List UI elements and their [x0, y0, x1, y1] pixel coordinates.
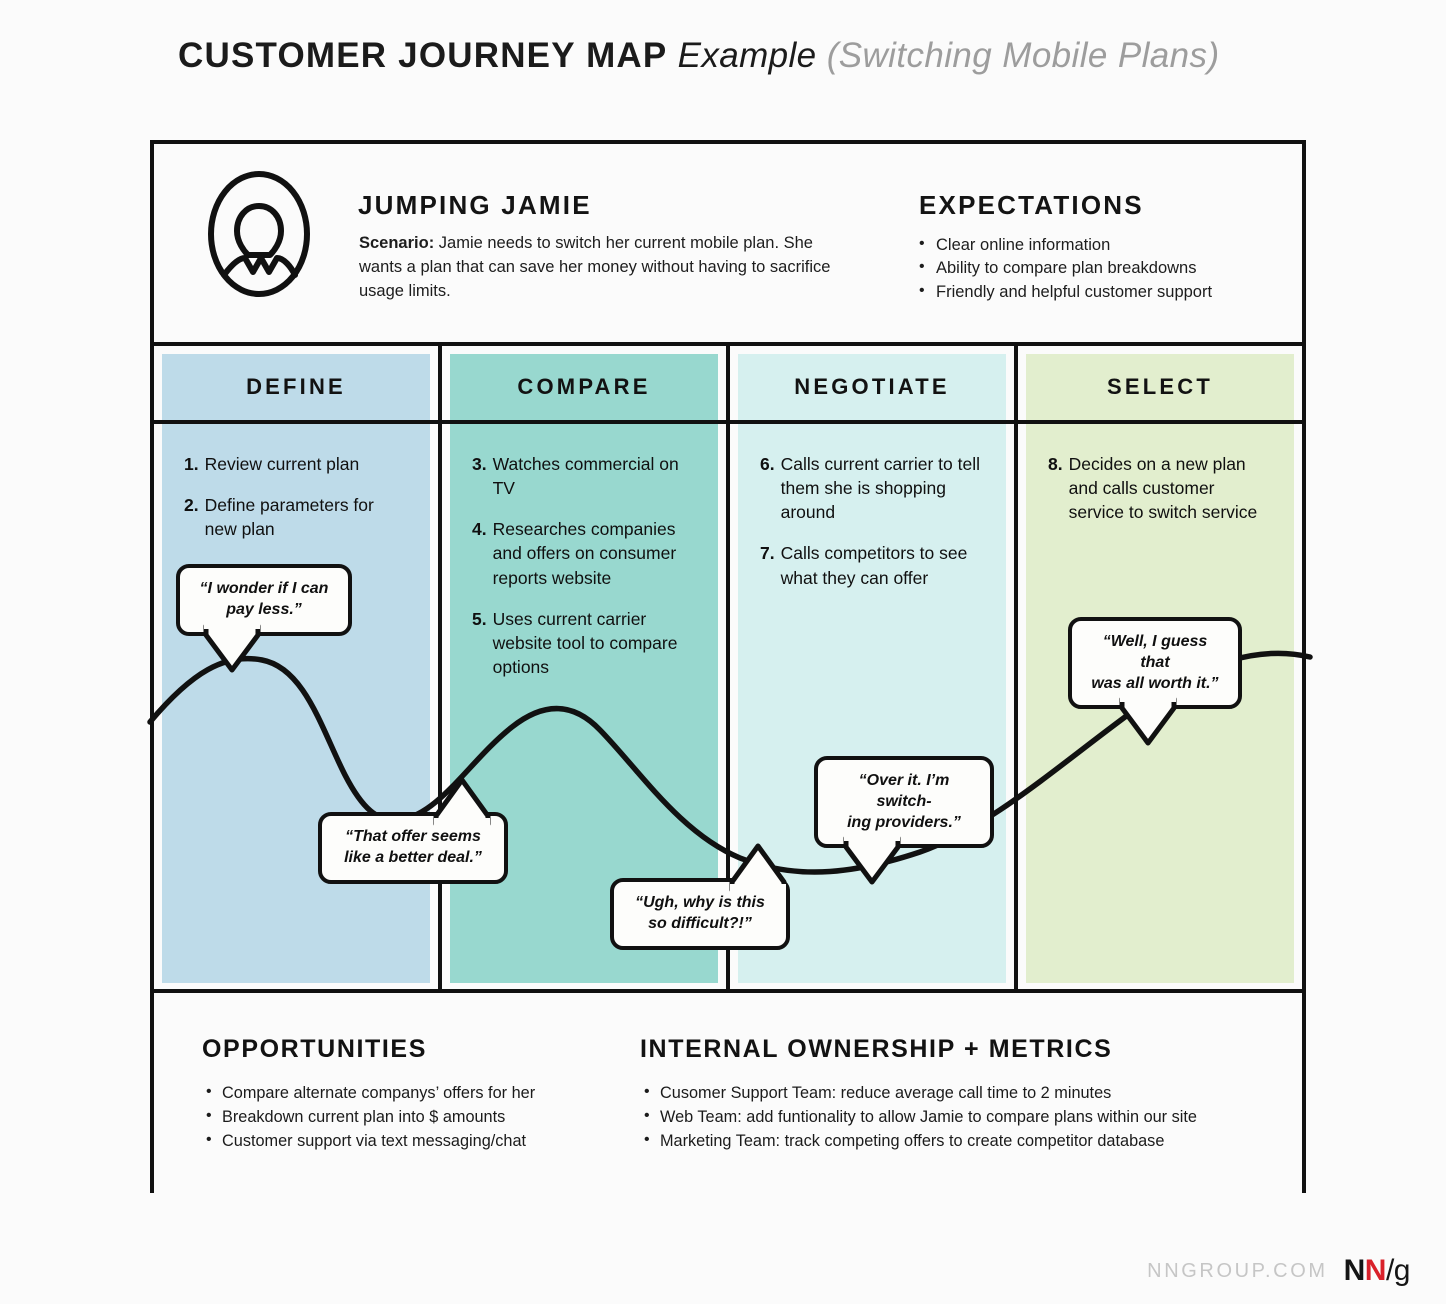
nng-logo: NN/g — [1344, 1256, 1410, 1286]
page-title-main: CUSTOMER JOURNEY MAP — [178, 36, 667, 75]
stage-body-define: 1. Review current plan 2. Define paramet… — [162, 424, 430, 983]
bottom-band: OPPORTUNITIES Compare alternate companys… — [154, 989, 1302, 1193]
ownership-title: INTERNAL OWNERSHIP + METRICS — [640, 1035, 1112, 1064]
quote-bubble-define: “I wonder if I can pay less.” — [176, 564, 352, 636]
nng-logo-n1: N — [1344, 1254, 1365, 1287]
stage-label: NEGOTIATE — [794, 374, 950, 400]
quote-line-1: “Ugh, why is this — [628, 893, 772, 914]
stage-label: SELECT — [1107, 374, 1213, 400]
list-item: Customer support via text messaging/chat — [204, 1129, 634, 1153]
step-list-select: 8. Decides on a new plan and calls custo… — [1026, 424, 1294, 524]
quote-line-2: pay less.” — [194, 600, 334, 621]
page-title-example: Example — [678, 36, 817, 75]
journey-map-page: CUSTOMER JOURNEY MAP Example (Switching … — [0, 0, 1446, 1304]
step-list-compare: 3. Watches commercial on TV 4. Researche… — [450, 424, 718, 679]
list-item: Ability to compare plan breakdowns — [919, 257, 1319, 280]
quote-line-1: “Over it. I’m switch- — [832, 771, 976, 813]
step-text: Define parameters for new plan — [205, 493, 410, 541]
persona-scenario: Scenario: Jamie needs to switch her curr… — [359, 232, 859, 304]
list-item: Cusomer Support Team: reduce average cal… — [642, 1081, 1282, 1105]
list-item: 1. Review current plan — [184, 452, 410, 476]
person-avatar-icon — [206, 170, 312, 298]
quote-line-2: so difficult?!” — [628, 914, 772, 935]
step-text: Decides on a new plan and calls customer… — [1069, 452, 1274, 524]
list-item: Breakdown current plan into $ amounts — [204, 1105, 634, 1129]
step-text: Watches commercial on TV — [493, 452, 698, 500]
step-list-define: 1. Review current plan 2. Define paramet… — [162, 424, 430, 541]
persona-scenario-label: Scenario: — [359, 234, 434, 252]
step-number: 4. — [472, 517, 487, 589]
footer-url: NNGROUP.COM — [1147, 1260, 1327, 1283]
quote-line-2: ing providers.” — [832, 813, 976, 834]
list-item: 5. Uses current carrier website tool to … — [472, 607, 698, 679]
list-item: Friendly and helpful customer support — [919, 281, 1319, 304]
step-text: Uses current carrier website tool to com… — [493, 607, 698, 679]
list-item: 8. Decides on a new plan and calls custo… — [1048, 452, 1274, 524]
expectations-title: EXPECTATIONS — [919, 190, 1144, 221]
persona-band: JUMPING JAMIE Scenario: Jamie needs to s… — [154, 144, 1302, 346]
nng-logo-slashg: /g — [1386, 1254, 1410, 1287]
quote-line-1: “I wonder if I can — [194, 579, 334, 600]
quote-line-1: “That offer seems — [336, 827, 490, 848]
stage-header-negotiate: NEGOTIATE — [738, 354, 1006, 420]
step-text: Researches companies and offers on consu… — [493, 517, 698, 589]
list-item: 6. Calls current carrier to tell them sh… — [760, 452, 986, 524]
step-number: 2. — [184, 493, 199, 541]
quote-line-2: like a better deal.” — [336, 848, 490, 869]
step-text: Calls competitors to see what they can o… — [781, 541, 986, 589]
quote-bubble-difficult: “Ugh, why is this so difficult?!” — [610, 878, 790, 950]
stage-header-define: DEFINE — [162, 354, 430, 420]
step-text: Calls current carrier to tell them she i… — [781, 452, 986, 524]
quote-bubble-compare: “That offer seems like a better deal.” — [318, 812, 508, 884]
quote-bubble-select: “Well, I guess that was all worth it.” — [1068, 617, 1242, 709]
stage-header-compare: COMPARE — [450, 354, 718, 420]
stage-label: DEFINE — [246, 374, 346, 400]
step-number: 6. — [760, 452, 775, 524]
step-number: 7. — [760, 541, 775, 589]
quote-bubble-negotiate: “Over it. I’m switch- ing providers.” — [814, 756, 994, 848]
list-item: 2. Define parameters for new plan — [184, 493, 410, 541]
stage-column-define[interactable]: DEFINE 1. Review current plan 2. Define … — [154, 346, 442, 989]
page-title: CUSTOMER JOURNEY MAP Example (Switching … — [178, 36, 1220, 76]
list-item: 4. Researches companies and offers on co… — [472, 517, 698, 589]
list-item: 3. Watches commercial on TV — [472, 452, 698, 500]
step-number: 3. — [472, 452, 487, 500]
nng-logo-n2: N — [1365, 1254, 1386, 1287]
list-item: Marketing Team: track competing offers t… — [642, 1129, 1282, 1153]
expectations-list: Clear online information Ability to comp… — [919, 234, 1319, 304]
page-title-parenthetical: (Switching Mobile Plans) — [827, 36, 1220, 75]
quote-line-1: “Well, I guess that — [1086, 632, 1224, 674]
footer: NNGROUP.COM NN/g — [1147, 1256, 1410, 1286]
opportunities-title: OPPORTUNITIES — [202, 1035, 427, 1064]
step-number: 5. — [472, 607, 487, 679]
step-list-negotiate: 6. Calls current carrier to tell them sh… — [738, 424, 1006, 590]
list-item: Clear online information — [919, 234, 1319, 257]
persona-name: JUMPING JAMIE — [358, 190, 592, 221]
stage-header-select: SELECT — [1026, 354, 1294, 420]
quote-line-2: was all worth it.” — [1086, 674, 1224, 695]
step-text: Review current plan — [205, 452, 410, 476]
list-item: Compare alternate companys’ offers for h… — [204, 1081, 634, 1105]
step-number: 1. — [184, 452, 199, 476]
list-item: Web Team: add funtionality to allow Jami… — [642, 1105, 1282, 1129]
list-item: 7. Calls competitors to see what they ca… — [760, 541, 986, 589]
stage-label: COMPARE — [517, 374, 650, 400]
opportunities-list: Compare alternate companys’ offers for h… — [204, 1081, 634, 1153]
step-number: 8. — [1048, 452, 1063, 524]
ownership-list: Cusomer Support Team: reduce average cal… — [642, 1081, 1282, 1153]
